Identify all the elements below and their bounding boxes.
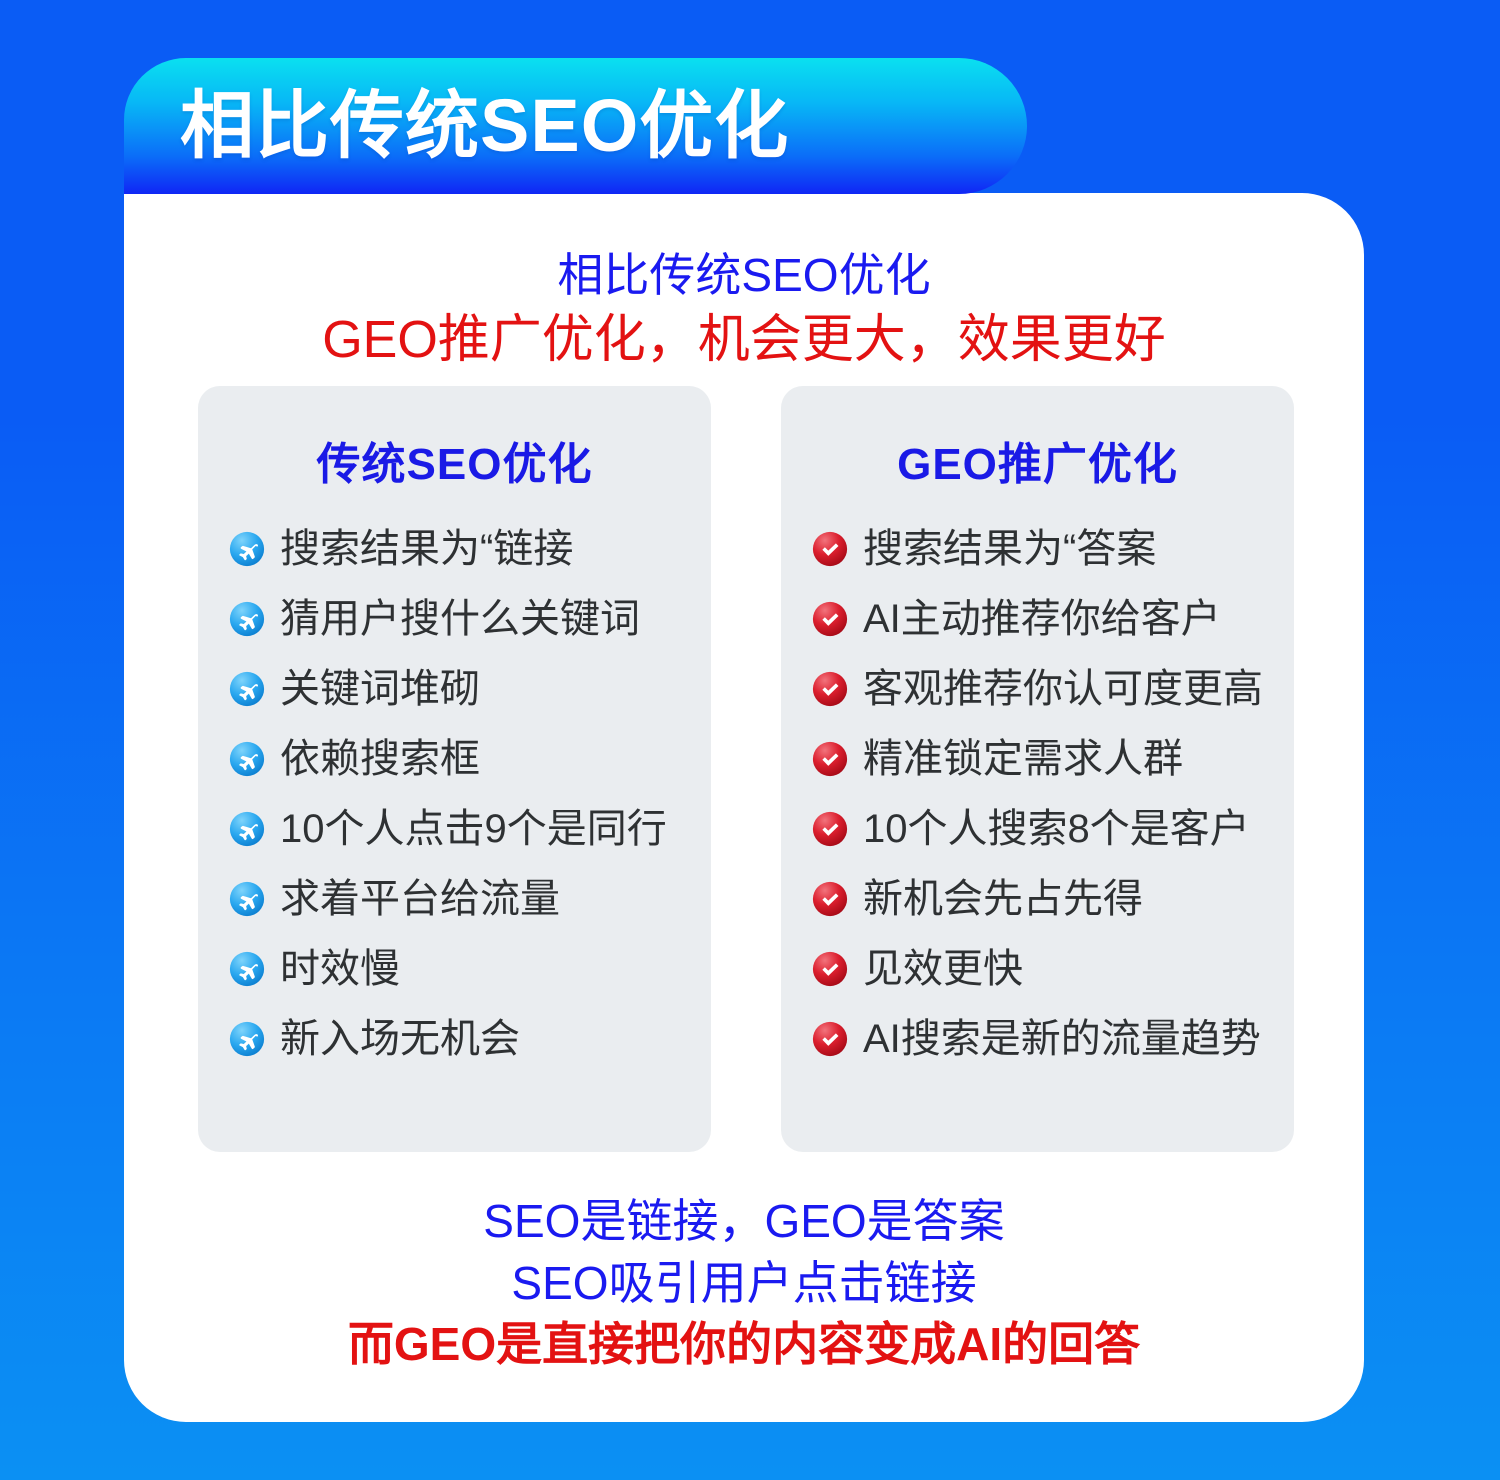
content-card: 相比传统SEO优化 GEO推广优化，机会更大，效果更好 传统SEO优化	[124, 193, 1364, 1422]
check-circle-icon	[811, 670, 849, 708]
list-item: AI主动推荐你给客户	[781, 584, 1294, 654]
list-item-label: 新机会先占先得	[863, 878, 1143, 920]
panel-title-traditional-seo: 传统SEO优化	[198, 428, 711, 492]
list-item-label: 10个人点击9个是同行	[280, 808, 667, 850]
list-item-label: AI搜索是新的流量趋势	[863, 1018, 1261, 1060]
list-item: 客观推荐你认可度更高	[781, 654, 1294, 724]
list-item-label: 搜索结果为“答案	[863, 528, 1156, 570]
footer-line-1: SEO是链接，GEO是答案	[124, 1191, 1364, 1253]
list-item: AI搜索是新的流量趋势	[781, 1004, 1294, 1074]
plane-icon	[228, 740, 266, 778]
check-circle-icon	[811, 950, 849, 988]
panel-traditional-seo: 传统SEO优化 搜索结果为“链接	[198, 386, 711, 1152]
list-item-label: 10个人搜索8个是客户	[863, 808, 1250, 850]
list-item: 10个人搜索8个是客户	[781, 794, 1294, 864]
list-item: 新机会先占先得	[781, 864, 1294, 934]
subtitle-line-2: GEO推广优化，机会更大，效果更好	[124, 306, 1364, 375]
list-geo-promotion: 搜索结果为“答案 AI主动推荐你给客户	[781, 514, 1294, 1074]
list-traditional-seo: 搜索结果为“链接 猜用户搜什么关键词	[198, 514, 711, 1074]
list-item-label: 精准锁定需求人群	[863, 738, 1183, 780]
list-item-label: AI主动推荐你给客户	[863, 598, 1221, 640]
plane-icon	[228, 600, 266, 638]
header-banner: 相比传统SEO优化	[124, 58, 1027, 194]
list-item: 10个人点击9个是同行	[198, 794, 711, 864]
list-item-label: 搜索结果为“链接	[280, 528, 573, 570]
list-item-label: 客观推荐你认可度更高	[863, 668, 1263, 710]
list-item: 新入场无机会	[198, 1004, 711, 1074]
panel-title-geo-promotion: GEO推广优化	[781, 428, 1294, 492]
list-item: 猜用户搜什么关键词	[198, 584, 711, 654]
list-item: 关键词堆砌	[198, 654, 711, 724]
list-item: 见效更快	[781, 934, 1294, 1004]
plane-icon	[228, 810, 266, 848]
list-item-label: 见效更快	[863, 948, 1023, 990]
plane-icon	[228, 880, 266, 918]
plane-icon	[228, 1020, 266, 1058]
subtitle-line-1: 相比传统SEO优化	[124, 245, 1364, 306]
plane-icon	[228, 670, 266, 708]
check-circle-icon	[811, 530, 849, 568]
check-circle-icon	[811, 880, 849, 918]
list-item-label: 时效慢	[280, 948, 400, 990]
page-title: 相比传统SEO优化	[180, 89, 789, 163]
footer-line-2: SEO吸引用户点击链接	[124, 1253, 1364, 1315]
plane-icon	[228, 530, 266, 568]
footer-block: SEO是链接，GEO是答案 SEO吸引用户点击链接 而GEO是直接把你的内容变成…	[124, 1191, 1364, 1376]
list-item: 搜索结果为“链接	[198, 514, 711, 584]
panel-geo-promotion: GEO推广优化 搜索结果为“答案	[781, 386, 1294, 1152]
check-circle-icon	[811, 1020, 849, 1058]
list-item-label: 依赖搜索框	[280, 738, 480, 780]
check-circle-icon	[811, 740, 849, 778]
list-item-label: 新入场无机会	[280, 1018, 520, 1060]
footer-line-3: 而GEO是直接把你的内容变成AI的回答	[124, 1314, 1364, 1376]
list-item-label: 求着平台给流量	[280, 878, 560, 920]
subtitle-block: 相比传统SEO优化 GEO推广优化，机会更大，效果更好	[124, 245, 1364, 374]
list-item: 时效慢	[198, 934, 711, 1004]
list-item: 精准锁定需求人群	[781, 724, 1294, 794]
check-circle-icon	[811, 810, 849, 848]
list-item: 依赖搜索框	[198, 724, 711, 794]
list-item: 搜索结果为“答案	[781, 514, 1294, 584]
list-item-label: 关键词堆砌	[280, 668, 480, 710]
list-item: 求着平台给流量	[198, 864, 711, 934]
list-item-label: 猜用户搜什么关键词	[280, 598, 640, 640]
comparison-panels: 传统SEO优化 搜索结果为“链接	[198, 386, 1294, 1152]
plane-icon	[228, 950, 266, 988]
check-circle-icon	[811, 600, 849, 638]
